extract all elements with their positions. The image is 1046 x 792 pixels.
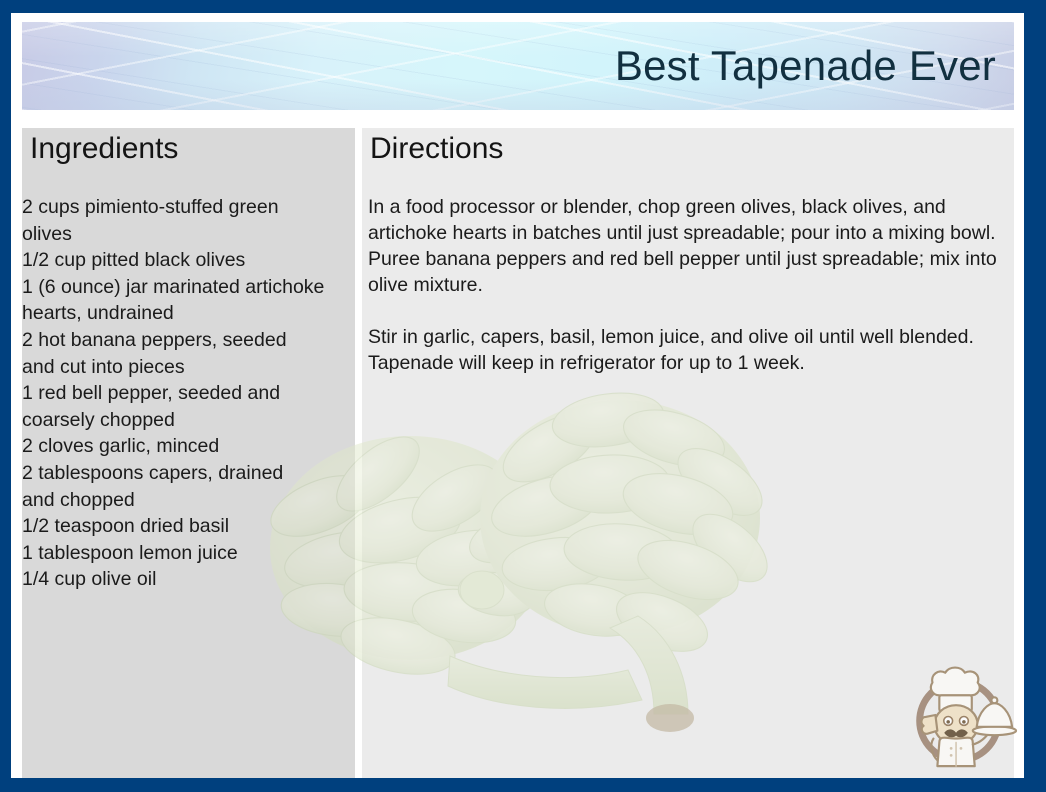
directions-paragraph: Stir in garlic, capers, basil, lemon jui… — [368, 324, 1008, 376]
directions-heading-tab: Directions — [362, 128, 526, 170]
recipe-card: Best Tapenade Ever — [0, 0, 1046, 792]
header-banner: Best Tapenade Ever — [22, 22, 1014, 110]
directions-paragraph: In a food processor or blender, chop gre… — [368, 194, 1008, 298]
ingredient-line: 1 tablespoon lemon juice — [22, 540, 358, 567]
ingredient-line: 2 cups pimiento-stuffed green — [22, 194, 358, 221]
directions-text-block: In a food processor or blender, chop gre… — [368, 194, 1008, 376]
ingredient-line: olives — [22, 221, 358, 248]
ingredient-line: 2 tablespoons capers, drained — [22, 460, 358, 487]
ingredients-heading-tab: Ingredients — [22, 128, 200, 170]
page-title: Best Tapenade Ever — [615, 42, 996, 90]
ingredient-line: coarsely chopped — [22, 407, 358, 434]
ingredient-line: and chopped — [22, 487, 358, 514]
ingredients-heading-label: Ingredients — [30, 134, 178, 164]
ingredient-line: 2 hot banana peppers, seeded — [22, 327, 358, 354]
frame-border-right — [1024, 0, 1046, 792]
chef-mascot-logo-icon — [900, 656, 1018, 774]
ingredient-line: 2 cloves garlic, minced — [22, 433, 358, 460]
ingredient-line: 1 red bell pepper, seeded and — [22, 380, 358, 407]
ingredient-line: 1/2 teaspoon dried basil — [22, 513, 358, 540]
ingredient-line: and cut into pieces — [22, 354, 358, 381]
frame-border-bottom — [0, 778, 1046, 792]
ingredient-line: 1 (6 ounce) jar marinated artichoke — [22, 274, 358, 301]
ingredients-list: 2 cups pimiento-stuffed greenolives1/2 c… — [22, 194, 358, 593]
frame-border-left — [0, 0, 11, 792]
ingredient-line: 1/4 cup olive oil — [22, 566, 358, 593]
directions-heading-label: Directions — [370, 134, 503, 164]
ingredient-line: hearts, undrained — [22, 300, 358, 327]
ingredients-text-block: 2 cups pimiento-stuffed greenolives1/2 c… — [22, 194, 358, 593]
ingredient-line: 1/2 cup pitted black olives — [22, 247, 358, 274]
frame-border-top — [0, 0, 1046, 13]
